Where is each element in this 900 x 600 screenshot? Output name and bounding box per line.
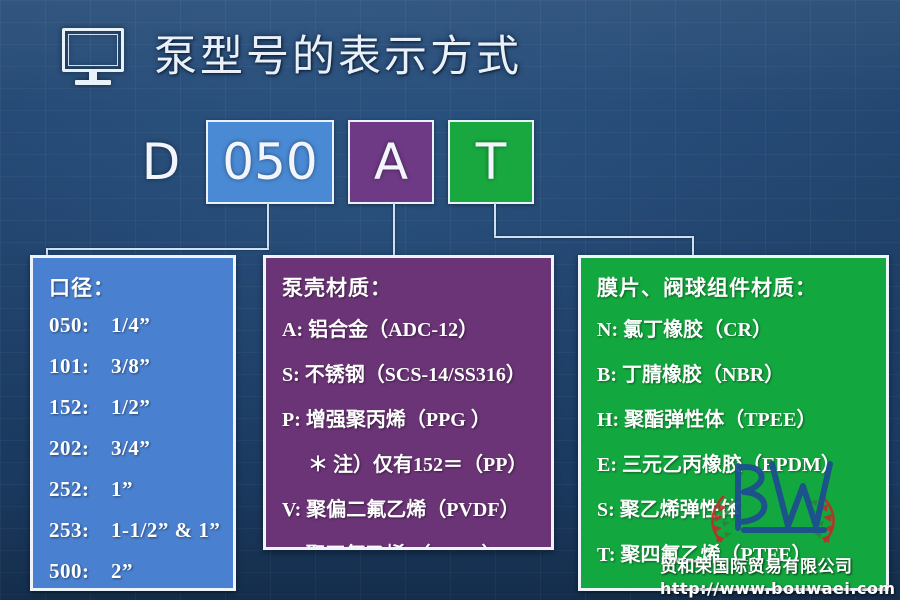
body-material-row: T: 聚四氟乙烯 （PTFE） <box>282 538 535 550</box>
membrane-material-row: T: 聚四氟乙烯（PTFE） <box>597 538 870 567</box>
bore-code: 152: <box>49 395 111 420</box>
bore-row: 050:1/4” <box>49 313 217 338</box>
membrane-material-row: V: 氟化橡胶（FKM） <box>597 583 870 591</box>
bore-row: 101:3/8” <box>49 354 217 379</box>
membrane-material-row: N: 氯丁橡胶（CR） <box>597 313 870 342</box>
bore-row: 252:1” <box>49 477 217 502</box>
bore-row: 152:1/2” <box>49 395 217 420</box>
connector-membrane-vertical-top <box>494 204 496 238</box>
membrane-material-row: S: 聚乙烯弹性体 <box>597 493 870 522</box>
bore-value: 1-1/2” & 1” <box>111 518 220 542</box>
panel-bore-title: 口径： <box>49 272 217 302</box>
bore-value: 3/8” <box>111 354 150 378</box>
bore-row: 253:1-1/2” & 1” <box>49 518 217 543</box>
connector-bore-horizontal <box>46 248 269 250</box>
monitor-icon <box>62 28 128 86</box>
body-material-row: P: 增强聚丙烯（PPG ） <box>282 403 535 432</box>
membrane-material-row: B: 丁腈橡胶（NBR） <box>597 358 870 387</box>
connector-bore-vertical-top <box>267 204 269 250</box>
bore-value: 2” <box>111 559 133 583</box>
membrane-material-row: H: 聚酯弹性体（TPEE） <box>597 403 870 432</box>
monitor-screen <box>62 28 124 72</box>
panel-membrane-material-title: 膜片、阀球组件材质： <box>597 272 870 302</box>
bore-value: 1” <box>111 477 133 501</box>
bore-value: 3/4” <box>111 436 150 460</box>
code-segment-bore[interactable]: 050 <box>206 120 334 204</box>
connector-body-vertical <box>393 204 395 257</box>
slide-canvas: 泵型号的表示方式 D 050 A T 口径： 050:1/4” 101:3/8”… <box>0 0 900 600</box>
panel-membrane-material: 膜片、阀球组件材质： N: 氯丁橡胶（CR） B: 丁腈橡胶（NBR） H: 聚… <box>578 255 889 591</box>
bore-value: 1/4” <box>111 313 150 337</box>
model-code-row: D 050 A T <box>130 120 534 204</box>
bore-code: 202: <box>49 436 111 461</box>
header: 泵型号的表示方式 <box>62 28 522 86</box>
page-title: 泵型号的表示方式 <box>154 36 522 79</box>
bore-code: 252: <box>49 477 111 502</box>
bore-code: 253: <box>49 518 111 543</box>
code-segment-body-material[interactable]: A <box>348 120 434 204</box>
body-material-row: V: 聚偏二氟乙烯（PVDF） <box>282 493 535 522</box>
membrane-material-row: E: 三元乙丙橡胶（EPDM） <box>597 448 870 477</box>
panel-body-material-title: 泵壳材质： <box>282 272 535 302</box>
panel-body-material: 泵壳材质： A: 铝合金（ADC-12） S: 不锈钢（SCS-14/SS316… <box>263 255 554 550</box>
code-segment-membrane-material[interactable]: T <box>448 120 534 204</box>
bore-code: 101: <box>49 354 111 379</box>
body-material-row: A: 铝合金（ADC-12） <box>282 313 535 342</box>
body-material-row: S: 不锈钢（SCS-14/SS316） <box>282 358 535 387</box>
monitor-base <box>75 80 111 85</box>
bore-row: 202:3/4” <box>49 436 217 461</box>
bore-value: 1/2” <box>111 395 150 419</box>
bore-code: 050: <box>49 313 111 338</box>
body-material-note: ＊ 注）仅有152＝（PP） <box>282 448 535 477</box>
code-segment-d[interactable]: D <box>130 120 192 204</box>
bore-row: 500:2” <box>49 559 217 584</box>
bore-code: 500: <box>49 559 111 584</box>
panel-bore: 口径： 050:1/4” 101:3/8” 152:1/2” 202:3/4” … <box>30 255 236 591</box>
connector-membrane-horizontal <box>494 236 694 238</box>
